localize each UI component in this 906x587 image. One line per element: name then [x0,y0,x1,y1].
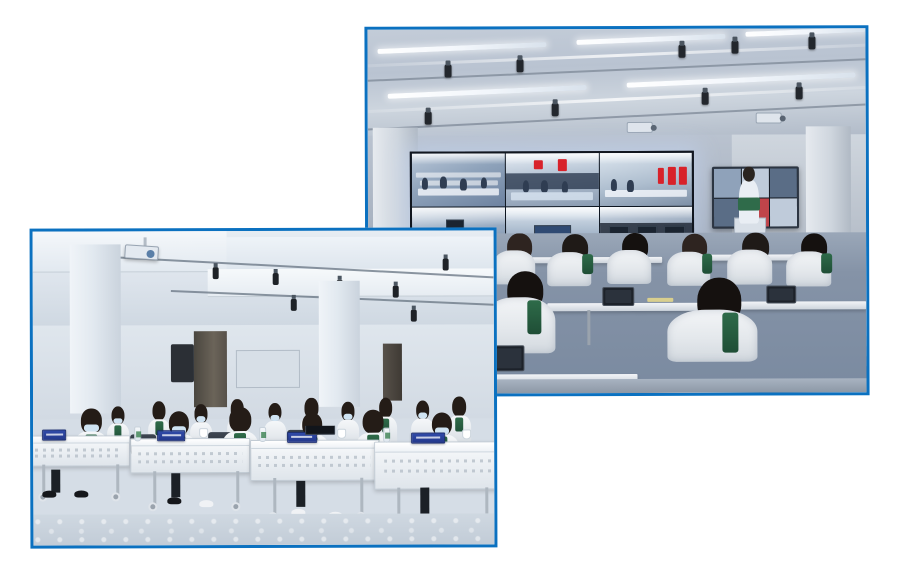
spotlight-icon [679,45,686,58]
collage-canvas [0,0,906,587]
training-table [130,438,250,474]
spotlight-icon [701,92,708,105]
wall-panel [236,350,301,388]
spotlight-icon [411,309,417,321]
name-placard-icon [411,432,445,443]
spotlight-icon [796,86,803,99]
name-placard-icon [42,430,66,441]
wall-speaker [171,344,194,382]
spotlight-icon [425,111,432,124]
projector-icon [627,122,653,133]
spotlight-icon [291,298,297,310]
video-feed-cell [412,153,505,206]
laptop-icon [305,425,335,434]
structural-column [69,244,120,414]
spotlight-icon [808,37,815,50]
spotlight-icon [731,41,738,54]
name-placard-icon [158,431,186,442]
photo-bottom-content [33,230,495,545]
spotlight-icon [443,259,449,271]
projector-icon [756,113,782,124]
floor [33,513,494,545]
video-feed-cell [599,153,692,206]
spotlight-icon [212,267,218,279]
training-tables [33,425,494,546]
video-feed-cell [506,153,599,206]
projector-icon [124,244,159,260]
photo-training-room-front-rows[interactable] [30,227,498,548]
spotlight-icon [272,273,278,285]
presenter [739,180,759,224]
spotlight-icon [552,103,559,116]
spotlight-icon [392,286,398,298]
structural-column [319,281,361,407]
spotlight-icon [517,59,524,72]
training-table [374,442,494,490]
spotlight-icon [445,64,452,77]
training-table [250,440,379,481]
